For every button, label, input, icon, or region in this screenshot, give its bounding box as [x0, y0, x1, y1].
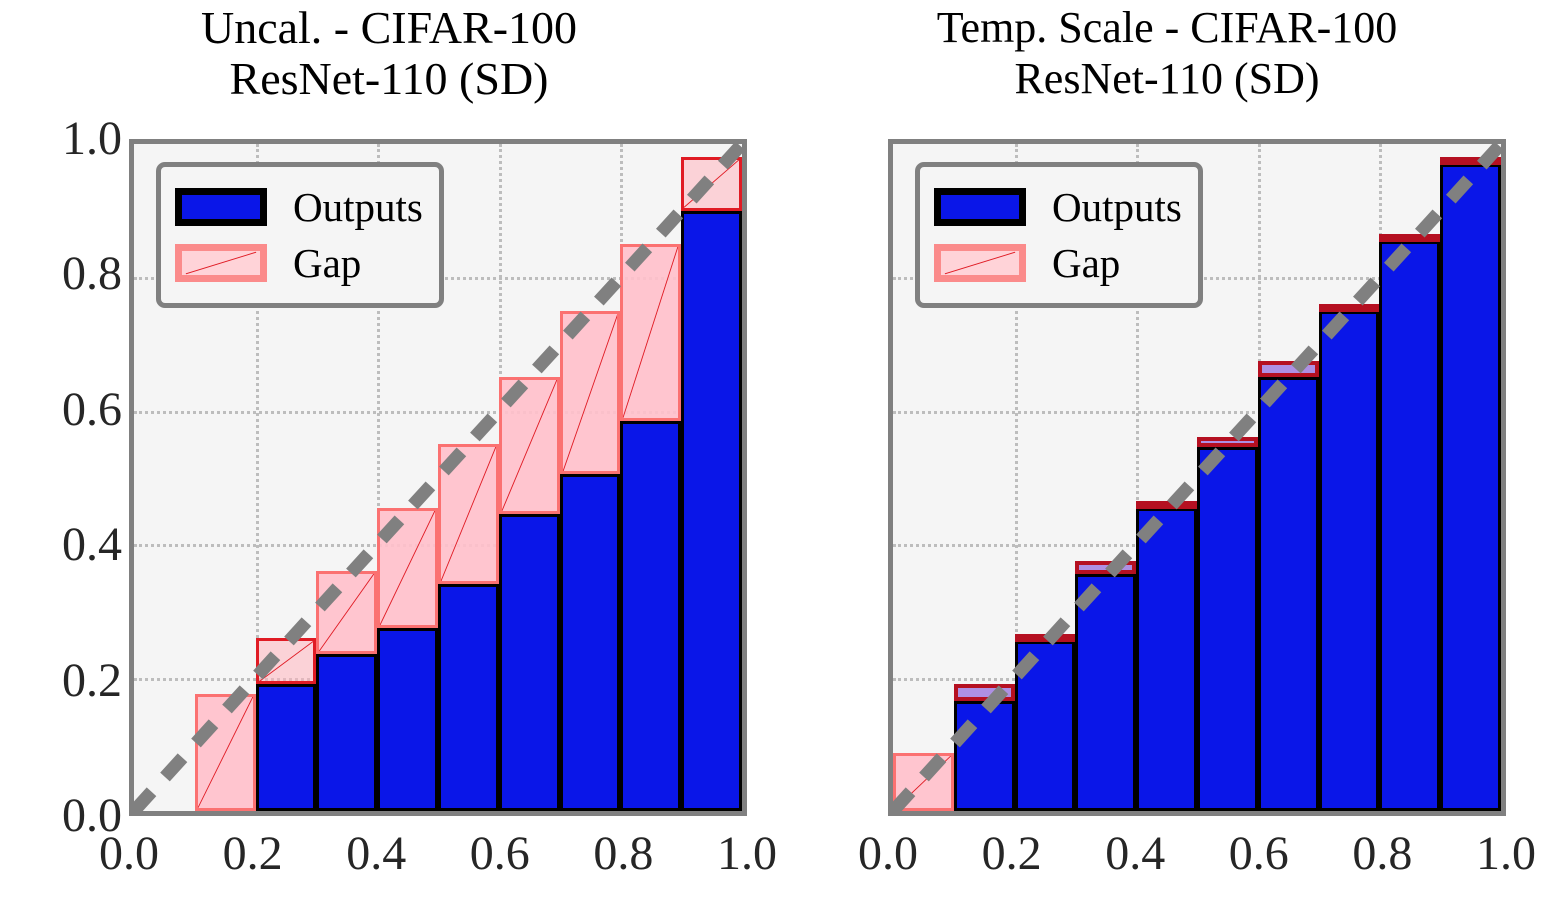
bar-gap	[499, 377, 560, 514]
x-tick-label: 0.2	[183, 828, 323, 880]
panel-title-temperature-scaled: Temp. Scale - CIFAR-100 ResNet-110 (SD)	[778, 2, 1556, 104]
bar-outputs	[316, 654, 377, 811]
x-tick-label: 0.4	[306, 828, 446, 880]
legend-right: Outputs Gap	[915, 162, 1203, 308]
legend-label-outputs: Outputs	[293, 187, 423, 228]
legend-label-gap: Gap	[1052, 243, 1120, 284]
bar-gap	[954, 684, 1015, 701]
bar-outputs	[560, 474, 621, 811]
bar-gap	[620, 244, 681, 421]
x-tick-label: 0.6	[430, 828, 570, 880]
bar-gap	[1319, 304, 1380, 312]
x-tick-label: 0.6	[1189, 828, 1329, 880]
panel-uncalibrated: Uncal. - CIFAR-100 ResNet-110 (SD) 0.00.…	[0, 0, 778, 915]
bar-outputs	[1319, 311, 1380, 811]
panel-temperature-scaled: Temp. Scale - CIFAR-100 ResNet-110 (SD) …	[778, 0, 1556, 915]
y-tick-label: 0.8	[4, 250, 122, 298]
y-axis-ticks-left: 0.00.20.40.60.81.0	[0, 139, 122, 816]
bar-outputs	[256, 684, 317, 811]
x-tick-label: 0.0	[818, 828, 958, 880]
bar-gap	[893, 753, 954, 811]
bar-outputs	[1258, 377, 1319, 811]
bar-gap	[377, 508, 438, 628]
x-tick-label: 0.4	[1065, 828, 1205, 880]
bar-gap	[195, 694, 256, 811]
x-tick-label: 0.2	[942, 828, 1082, 880]
bar-outputs	[1440, 164, 1501, 811]
plot-area-uncalibrated: Outputs Gap ECE=12.67	[129, 139, 747, 816]
bar-outputs	[1015, 641, 1076, 811]
bar-gap	[438, 444, 499, 584]
y-tick-label: 1.0	[4, 115, 122, 163]
bar-outputs	[1075, 574, 1136, 811]
bar-gap	[681, 157, 742, 210]
x-tick-label: 1.0	[1436, 828, 1556, 880]
bar-outputs	[620, 421, 681, 811]
bar-gap	[1258, 361, 1319, 378]
bar-outputs	[681, 211, 742, 811]
bar-gap	[1015, 634, 1076, 642]
bar-outputs	[1136, 508, 1197, 811]
bar-gap	[560, 311, 621, 474]
x-axis-ticks-right: 0.00.20.40.60.81.0	[888, 828, 1506, 888]
bar-gap	[316, 571, 377, 654]
bar-outputs	[954, 701, 1015, 811]
reliability-diagram-figure: Uncal. - CIFAR-100 ResNet-110 (SD) 0.00.…	[0, 0, 1556, 915]
legend-row-outputs-left: Outputs	[175, 179, 423, 235]
legend-row-outputs-right: Outputs	[934, 179, 1182, 235]
x-tick-label: 0.0	[59, 828, 199, 880]
bar-gap	[1136, 501, 1197, 509]
legend-row-gap-left: Gap	[175, 235, 423, 291]
y-tick-label: 0.4	[4, 521, 122, 569]
plot-area-temperature-scaled: Outputs Gap ECE=0.96	[888, 139, 1506, 816]
x-tick-label: 0.8	[553, 828, 693, 880]
bar-outputs	[1197, 447, 1258, 811]
legend-swatch-gap-icon	[934, 244, 1026, 282]
legend-swatch-outputs-icon	[175, 188, 267, 226]
bar-outputs	[377, 628, 438, 811]
axes-frame-left: Outputs Gap ECE=12.67	[129, 139, 747, 816]
y-tick-label: 0.6	[4, 386, 122, 434]
legend-left: Outputs Gap	[156, 162, 444, 308]
x-tick-label: 0.8	[1312, 828, 1452, 880]
y-tick-label: 0.2	[4, 657, 122, 705]
bar-outputs	[1379, 241, 1440, 811]
x-axis-ticks-left: 0.00.20.40.60.81.0	[129, 828, 747, 888]
axes-frame-right: Outputs Gap ECE=0.96	[888, 139, 1506, 816]
legend-label-outputs: Outputs	[1052, 187, 1182, 228]
panel-title-uncalibrated: Uncal. - CIFAR-100 ResNet-110 (SD)	[0, 2, 778, 104]
legend-swatch-outputs-icon	[934, 188, 1026, 226]
legend-label-gap: Gap	[293, 243, 361, 284]
legend-row-gap-right: Gap	[934, 235, 1182, 291]
bar-gap	[1197, 437, 1258, 447]
bar-gap	[256, 638, 317, 685]
bar-gap	[1379, 234, 1440, 242]
bar-gap	[1075, 561, 1136, 574]
bar-outputs	[499, 514, 560, 811]
legend-swatch-gap-icon	[175, 244, 267, 282]
bar-outputs	[438, 584, 499, 811]
bar-gap	[1440, 157, 1501, 165]
